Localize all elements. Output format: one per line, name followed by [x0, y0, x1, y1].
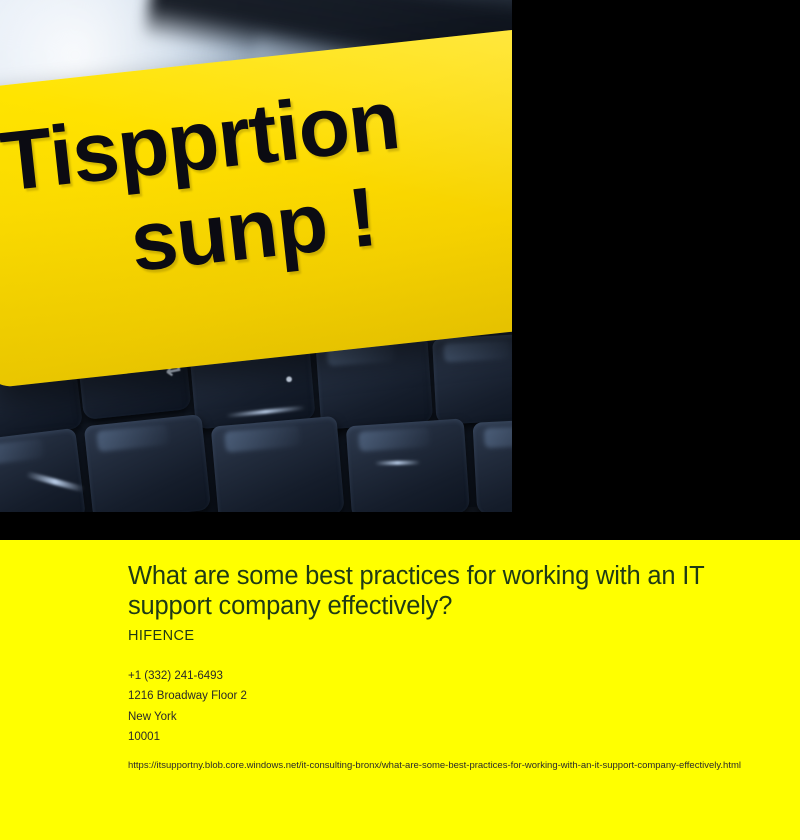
content-panel-inner: What are some best practices for working…: [0, 540, 800, 775]
content-panel: What are some best practices for working…: [0, 540, 800, 840]
keyboard-key: [432, 333, 512, 425]
contact-block: +1 (332) 241-6493 1216 Broadway Floor 2 …: [128, 666, 744, 748]
keyboard-key-glyph: •: [283, 370, 295, 390]
keyboard-key: [473, 417, 512, 512]
keyboard-key: [346, 418, 470, 512]
brand-name: HIFENCE: [128, 628, 744, 644]
page-root: ⇱ ↵ • Tispprtion sunp ! What are some be…: [0, 0, 800, 840]
keyboard-key: [84, 414, 211, 512]
page-title: What are some best practices for working…: [128, 562, 744, 622]
article-url[interactable]: https://itsupportny.blob.core.windows.ne…: [128, 756, 744, 775]
contact-street: 1216 Broadway Floor 2: [128, 686, 744, 706]
hero-image: ⇱ ↵ • Tispprtion sunp !: [0, 0, 512, 512]
contact-phone[interactable]: +1 (332) 241-6493: [128, 666, 744, 686]
keyboard-key-glint: [375, 460, 421, 465]
keyboard-key: [0, 428, 86, 512]
contact-zip: 10001: [128, 727, 744, 747]
keyboard-key: [211, 416, 345, 512]
yellow-sign: Tispprtion sunp !: [0, 28, 512, 389]
contact-city: New York: [128, 707, 744, 727]
